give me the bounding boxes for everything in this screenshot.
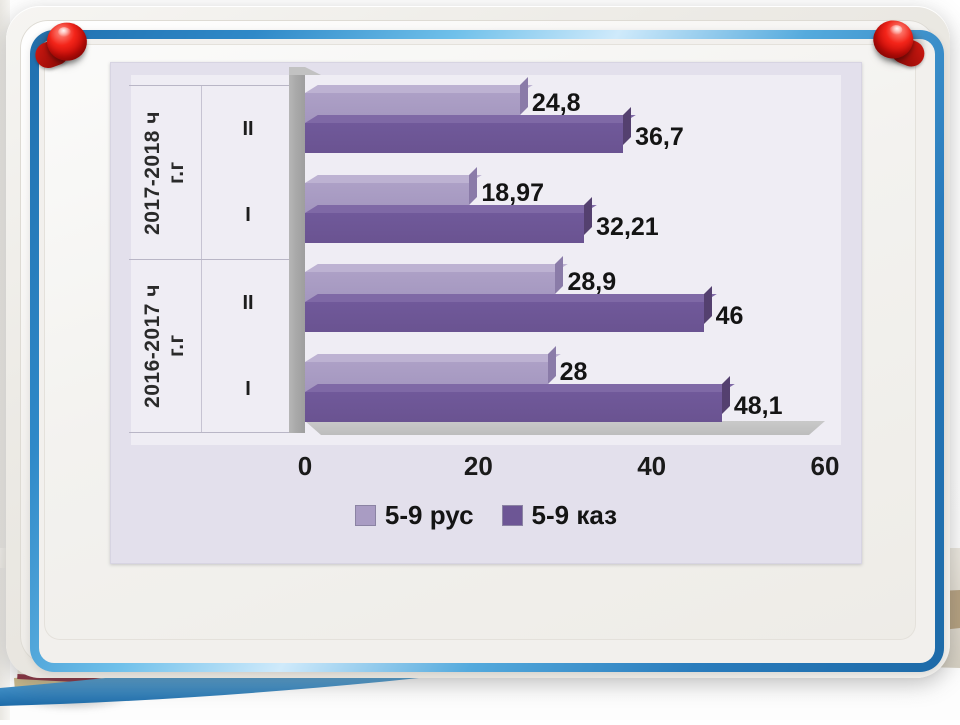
- chart-legend: 5-9 рус5-9 каз: [111, 493, 861, 537]
- value-axis-tick-label: 20: [464, 451, 493, 482]
- bar-value-label: 18,97: [481, 181, 544, 206]
- bar-top-face: [305, 264, 568, 272]
- category-tick-label: I: [202, 173, 294, 260]
- category-subcategories: II I: [202, 260, 294, 432]
- bar-side-face: [469, 167, 477, 205]
- bar-value-label: 32,21: [596, 215, 659, 240]
- category-group-label: 2017-2018 ч г.г: [129, 86, 202, 259]
- value-axis-tick-label: 60: [811, 451, 840, 482]
- bar-group: 18,9732,21: [305, 165, 825, 255]
- bar-value-label: 24,8: [532, 91, 581, 116]
- legend-label: 5-9 рус: [385, 500, 474, 531]
- legend-label: 5-9 каз: [532, 500, 618, 531]
- bars-container: 24,836,718,9732,2128,9462848,1: [305, 75, 825, 433]
- category-group: 2016-2017 ч г.г II I: [129, 259, 294, 433]
- bar-side-face: [704, 286, 712, 324]
- bar-side-face: [623, 107, 631, 145]
- legend-swatch: [355, 505, 376, 526]
- value-axis: 0204060: [131, 451, 841, 485]
- bar-group: 28,946: [305, 254, 825, 344]
- bar-top-face: [305, 294, 716, 302]
- bar-value-label: 36,7: [635, 125, 684, 150]
- bar-dark: [305, 302, 704, 332]
- category-tick-label: II: [202, 86, 294, 173]
- value-axis-tick-label: 40: [637, 451, 666, 482]
- category-group-label: 2016-2017 ч г.г: [129, 260, 202, 432]
- legend-item[interactable]: 5-9 рус: [355, 500, 474, 531]
- chart-3d-wall-top: [289, 67, 321, 75]
- bar-dark: [305, 123, 623, 153]
- slide-canvas: 2017-2018 ч г.г II I 2016-2017 ч г.г II …: [0, 0, 960, 720]
- legend-swatch: [502, 505, 523, 526]
- bar-value-label: 28: [560, 360, 588, 385]
- bar-side-face: [555, 256, 563, 294]
- chart-3d-wall: [289, 75, 305, 433]
- category-tick-label: I: [202, 346, 294, 432]
- bar-top-face: [305, 384, 735, 392]
- category-group-label-text: 2017-2018 ч г.г: [141, 111, 189, 235]
- legend-item[interactable]: 5-9 каз: [502, 500, 618, 531]
- bar-top-face: [305, 115, 636, 123]
- bar-top-face: [305, 205, 597, 213]
- bar-side-face: [584, 197, 592, 235]
- bar-dark: [305, 392, 722, 422]
- bar-value-label: 48,1: [734, 394, 783, 419]
- books-shadow: [12, 686, 132, 712]
- bar-value-label: 46: [716, 304, 744, 329]
- bar-group: 2848,1: [305, 344, 825, 434]
- bar-front-face: [305, 392, 722, 422]
- bar-group: 24,836,7: [305, 75, 825, 165]
- category-tick-label: II: [202, 260, 294, 346]
- bar-front-face: [305, 213, 584, 243]
- bar-front-face: [305, 302, 704, 332]
- bar-side-face: [548, 346, 556, 384]
- bar-chart: 2017-2018 ч г.г II I 2016-2017 ч г.г II …: [110, 62, 862, 564]
- bar-top-face: [305, 354, 560, 362]
- value-axis-tick-label: 0: [298, 451, 312, 482]
- bar-front-face: [305, 123, 623, 153]
- bar-dark: [305, 213, 584, 243]
- category-subcategories: II I: [202, 86, 294, 259]
- category-group-label-text: 2016-2017 ч г.г: [141, 284, 189, 408]
- bar-side-face: [722, 376, 730, 414]
- bar-top-face: [305, 175, 482, 183]
- bar-top-face: [305, 85, 533, 93]
- bar-value-label: 28,9: [567, 270, 616, 295]
- category-group: 2017-2018 ч г.г II I: [129, 85, 294, 259]
- category-axis: 2017-2018 ч г.г II I 2016-2017 ч г.г II …: [129, 85, 294, 433]
- bar-side-face: [520, 77, 528, 115]
